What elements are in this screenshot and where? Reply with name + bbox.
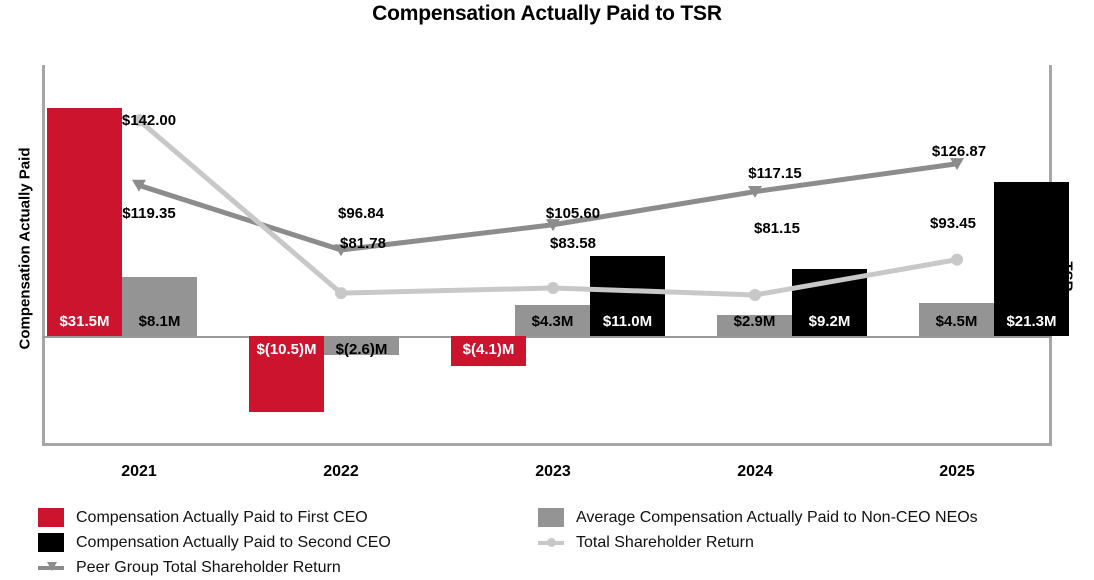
line-marker-circle	[951, 254, 963, 266]
legend-line-swatch	[38, 558, 64, 577]
line-value-label: $142.00	[122, 112, 176, 129]
legend-color-swatch	[538, 508, 564, 527]
line-marker-circle	[335, 287, 347, 299]
legend-item[interactable]: Compensation Actually Paid to Second CEO	[38, 533, 391, 552]
line-value-label: $81.78	[340, 235, 386, 252]
line-value-label: $119.35	[122, 205, 175, 222]
legend-color-swatch	[38, 533, 64, 552]
legend-item[interactable]: Peer Group Total Shareholder Return	[38, 558, 341, 577]
line-value-label: $93.45	[930, 215, 976, 232]
chart-root: Compensation Actually Paid to TSR Compen…	[0, 0, 1094, 580]
legend-triangle-marker-icon	[47, 562, 57, 571]
legend-label: Total Shareholder Return	[576, 534, 754, 552]
x-tick-2021: 2021	[121, 463, 157, 481]
x-axis-tick-labels: 20212022202320242025	[42, 463, 1052, 487]
x-tick-2024: 2024	[737, 463, 773, 481]
plot-area: $31.5M$8.1M$(10.5)M$(2.6)M$(4.1)M$4.3M$1…	[42, 65, 1052, 446]
line-marker-circle	[749, 289, 761, 301]
legend-item[interactable]: Total Shareholder Return	[538, 533, 754, 552]
chart-legend: Compensation Actually Paid to First CEOC…	[38, 508, 1088, 578]
legend-label: Peer Group Total Shareholder Return	[76, 559, 341, 577]
line-value-label: $83.58	[550, 235, 596, 252]
line-layer	[42, 65, 1052, 446]
x-tick-2023: 2023	[535, 463, 571, 481]
legend-line-swatch	[538, 533, 564, 552]
legend-circle-marker-icon	[547, 538, 556, 547]
legend-label: Compensation Actually Paid to Second CEO	[76, 534, 391, 552]
legend-label: Average Compensation Actually Paid to No…	[576, 509, 978, 527]
y-axis-title-left: Compensation Actually Paid	[17, 139, 34, 359]
chart-title: Compensation Actually Paid to TSR	[0, 2, 1094, 26]
x-tick-2022: 2022	[323, 463, 359, 481]
legend-item[interactable]: Compensation Actually Paid to First CEO	[38, 508, 368, 527]
line-value-label: $81.15	[754, 220, 800, 237]
line-value-label: $105.60	[546, 205, 600, 222]
legend-color-swatch	[38, 508, 64, 527]
line-value-label: $126.87	[932, 143, 986, 160]
legend-item[interactable]: Average Compensation Actually Paid to No…	[538, 508, 978, 527]
line-value-label: $96.84	[338, 205, 384, 222]
x-tick-2025: 2025	[939, 463, 975, 481]
legend-label: Compensation Actually Paid to First CEO	[76, 509, 368, 527]
line-value-label: $117.15	[748, 165, 801, 182]
line-marker-circle	[547, 282, 559, 294]
